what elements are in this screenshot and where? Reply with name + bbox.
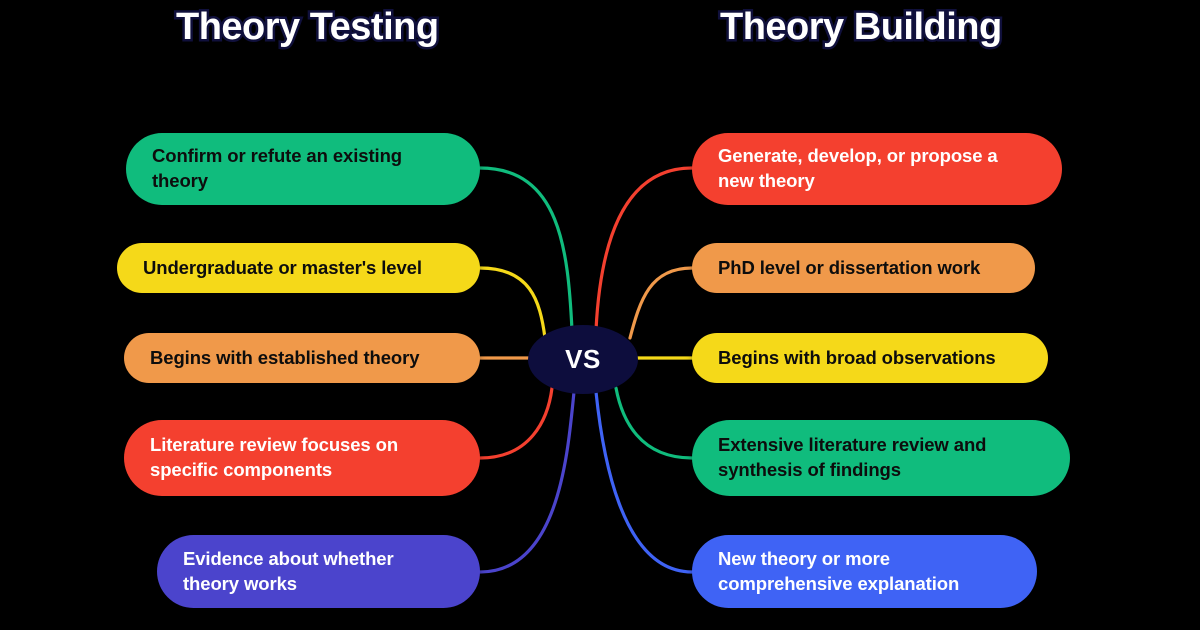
center-vs-label: VS: [565, 344, 601, 375]
connector-lines: [0, 0, 1200, 630]
left-node-4[interactable]: Literature review focuses on specific co…: [124, 420, 480, 496]
connector-left-2: [480, 268, 545, 338]
connector-right-5: [596, 392, 692, 572]
left-node-3[interactable]: Begins with established theory: [124, 333, 480, 383]
connector-right-2: [630, 268, 692, 338]
right-node-5[interactable]: New theory or more comprehensive explana…: [692, 535, 1037, 608]
left-node-3-label: Begins with established theory: [150, 346, 419, 371]
left-node-1[interactable]: Confirm or refute an existing theory: [126, 133, 480, 205]
right-node-5-label: New theory or more comprehensive explana…: [718, 547, 1011, 596]
left-node-4-label: Literature review focuses on specific co…: [150, 433, 454, 482]
right-node-2[interactable]: PhD level or dissertation work: [692, 243, 1035, 293]
right-node-1-label: Generate, develop, or propose a new theo…: [718, 144, 1036, 193]
center-vs-hub: VS: [528, 325, 638, 394]
connector-right-4: [616, 388, 692, 458]
right-node-3[interactable]: Begins with broad observations: [692, 333, 1048, 383]
left-node-5[interactable]: Evidence about whether theory works: [157, 535, 480, 608]
left-node-2[interactable]: Undergraduate or master's level: [117, 243, 480, 293]
right-node-1[interactable]: Generate, develop, or propose a new theo…: [692, 133, 1062, 205]
connector-left-4: [480, 388, 552, 458]
left-node-2-label: Undergraduate or master's level: [143, 256, 422, 281]
right-node-3-label: Begins with broad observations: [718, 346, 996, 371]
left-node-1-label: Confirm or refute an existing theory: [152, 144, 454, 193]
right-node-4[interactable]: Extensive literature review and synthesi…: [692, 420, 1070, 496]
left-node-5-label: Evidence about whether theory works: [183, 547, 454, 596]
connector-left-1: [480, 168, 572, 330]
connector-right-1: [596, 168, 692, 330]
right-node-4-label: Extensive literature review and synthesi…: [718, 433, 1044, 482]
diagram-canvas: Theory Testing Theory Building Confirm o…: [0, 0, 1200, 630]
connector-left-5: [480, 392, 574, 572]
right-node-2-label: PhD level or dissertation work: [718, 256, 980, 281]
